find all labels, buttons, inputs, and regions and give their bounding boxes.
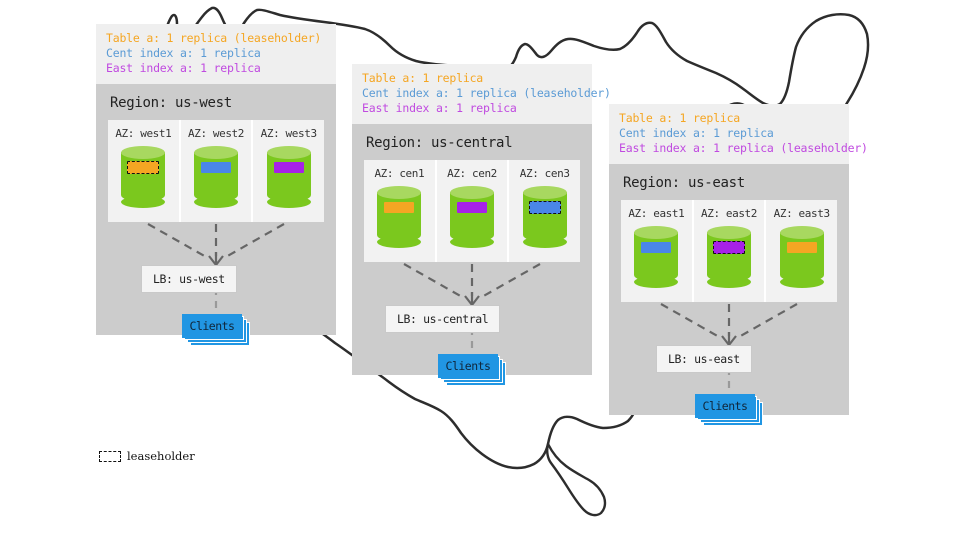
table-a-replica-badge: [787, 242, 817, 253]
clients-box[interactable]: Clients: [695, 394, 755, 418]
region-title: Region: us-west: [96, 84, 336, 120]
region-panel-us-east: Table a: 1 replica Cent index a: 1 repli…: [609, 104, 849, 415]
node-cylinder[interactable]: [267, 146, 311, 208]
az-label: AZ: cen1: [364, 167, 435, 180]
node-cylinder[interactable]: [194, 146, 238, 208]
clients-label: Clients: [190, 319, 235, 333]
cylinder-body: [267, 152, 311, 202]
load-balancer-us-central[interactable]: LB: us-central: [385, 305, 500, 333]
cylinder-body: [194, 152, 238, 202]
region-title: Region: us-central: [352, 124, 592, 160]
az-label: AZ: west2: [181, 127, 252, 140]
az-label: AZ: east2: [694, 207, 765, 220]
az-cell-cen3[interactable]: AZ: cen3: [507, 160, 580, 262]
cylinder-top: [523, 186, 567, 199]
cylinder-body: [450, 192, 494, 242]
cylinder-top: [707, 226, 751, 239]
node-cylinder[interactable]: [707, 226, 751, 288]
cylinder-top: [377, 186, 421, 199]
leaseholder-legend: leaseholder: [99, 449, 195, 463]
legend-line-cent-index: Cent index a: 1 replica (leaseholder): [362, 86, 582, 101]
diagram-canvas: Table a: 1 replica (leaseholder) Cent in…: [0, 0, 960, 540]
az-strip: AZ: west1 AZ: west2: [108, 120, 324, 222]
clients-stack-us-east[interactable]: Clients: [695, 394, 765, 428]
legend-line-east-index: East index a: 1 replica (leaseholder): [619, 141, 839, 156]
node-cylinder[interactable]: [377, 186, 421, 248]
az-cell-cen1[interactable]: AZ: cen1: [364, 160, 435, 262]
cylinder-top: [450, 186, 494, 199]
legend-line-table-a: Table a: 1 replica: [619, 111, 839, 126]
az-label: AZ: east3: [766, 207, 837, 220]
az-label: AZ: west3: [253, 127, 324, 140]
cylinder-top: [267, 146, 311, 159]
az-cell-east2[interactable]: AZ: east2: [692, 200, 765, 302]
cent-index-replica-badge: [201, 162, 231, 173]
lb-label: LB: us-west: [153, 272, 225, 286]
legend-line-east-index: East index a: 1 replica: [106, 61, 326, 76]
region-body: Region: us-west AZ: west1 AZ: west2: [96, 84, 336, 335]
east-index-replica-badge: [274, 162, 304, 173]
legend-line-east-index: East index a: 1 replica: [362, 101, 582, 116]
az-cell-east1[interactable]: AZ: east1: [621, 200, 692, 302]
clients-stack-us-west[interactable]: Clients: [182, 314, 252, 348]
az-cell-cen2[interactable]: AZ: cen2: [435, 160, 508, 262]
clients-box[interactable]: Clients: [438, 354, 498, 378]
az-cell-west3[interactable]: AZ: west3: [251, 120, 324, 222]
cylinder-top: [780, 226, 824, 239]
region-replica-legend: Table a: 1 replica Cent index a: 1 repli…: [609, 104, 849, 164]
cylinder-body: [377, 192, 421, 242]
cylinder-top: [634, 226, 678, 239]
cylinder-top: [194, 146, 238, 159]
legend-line-table-a: Table a: 1 replica: [362, 71, 582, 86]
dashed-rect-icon: [99, 451, 121, 462]
az-cell-west2[interactable]: AZ: west2: [179, 120, 252, 222]
legend-line-cent-index: Cent index a: 1 replica: [106, 46, 326, 61]
az-label: AZ: east1: [621, 207, 692, 220]
lb-label: LB: us-central: [397, 312, 488, 326]
az-label: AZ: cen2: [437, 167, 508, 180]
cylinder-body: [523, 192, 567, 242]
cent-index-replica-badge: [641, 242, 671, 253]
cylinder-top: [121, 146, 165, 159]
region-replica-legend: Table a: 1 replica Cent index a: 1 repli…: [352, 64, 592, 124]
cylinder-body: [121, 152, 165, 202]
cylinder-body: [707, 232, 751, 282]
node-cylinder[interactable]: [450, 186, 494, 248]
region-body: Region: us-east AZ: east1 AZ: east2: [609, 164, 849, 415]
clients-label: Clients: [703, 399, 748, 413]
cylinder-body: [780, 232, 824, 282]
node-cylinder[interactable]: [634, 226, 678, 288]
az-strip: AZ: east1 AZ: east2: [621, 200, 837, 302]
legend-line-cent-index: Cent index a: 1 replica: [619, 126, 839, 141]
cylinder-body: [634, 232, 678, 282]
node-cylinder[interactable]: [780, 226, 824, 288]
east-index-replica-badge: [457, 202, 487, 213]
az-label: AZ: cen3: [509, 167, 580, 180]
table-a-replica-badge: [127, 161, 159, 174]
region-panel-us-central: Table a: 1 replica Cent index a: 1 repli…: [352, 64, 592, 375]
table-a-replica-badge: [384, 202, 414, 213]
region-replica-legend: Table a: 1 replica (leaseholder) Cent in…: [96, 24, 336, 84]
node-cylinder[interactable]: [121, 146, 165, 208]
az-strip: AZ: cen1 AZ: cen2: [364, 160, 580, 262]
clients-stack-us-central[interactable]: Clients: [438, 354, 508, 388]
az-cell-west1[interactable]: AZ: west1: [108, 120, 179, 222]
load-balancer-us-west[interactable]: LB: us-west: [141, 265, 237, 293]
clients-box[interactable]: Clients: [182, 314, 242, 338]
cent-index-replica-badge: [529, 201, 561, 214]
node-cylinder[interactable]: [523, 186, 567, 248]
load-balancer-us-east[interactable]: LB: us-east: [656, 345, 752, 373]
region-body: Region: us-central AZ: cen1 AZ: cen2: [352, 124, 592, 375]
lb-label: LB: us-east: [668, 352, 740, 366]
leaseholder-legend-label: leaseholder: [127, 449, 195, 463]
az-label: AZ: west1: [108, 127, 179, 140]
region-panel-us-west: Table a: 1 replica (leaseholder) Cent in…: [96, 24, 336, 335]
az-cell-east3[interactable]: AZ: east3: [764, 200, 837, 302]
legend-line-table-a: Table a: 1 replica (leaseholder): [106, 31, 326, 46]
east-index-replica-badge: [713, 241, 745, 254]
clients-label: Clients: [446, 359, 491, 373]
region-title: Region: us-east: [609, 164, 849, 200]
